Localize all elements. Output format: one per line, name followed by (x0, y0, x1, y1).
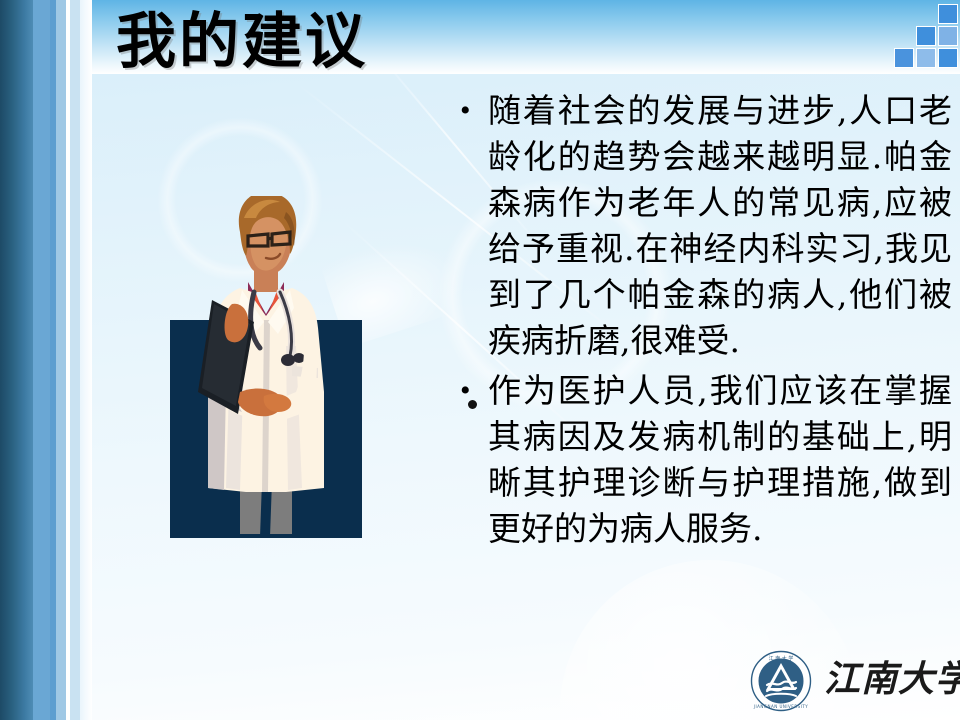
bullet-text: 作为医护人员,我们应该在掌握其病因及发病机制的基础上,明晰其护理诊断与护理措施,… (488, 368, 952, 552)
university-logo: 江 南 大 学 JIANGNAN UNIVERSITY 江南大学 (750, 648, 950, 712)
female-doctor-illustration (168, 196, 364, 541)
bar-dark-teal (0, 0, 33, 720)
bar-medium-blue (33, 0, 50, 720)
corner-square-3 (938, 26, 958, 46)
presentation-slide: 我的建议 (0, 0, 960, 720)
bar-pale-blue (70, 0, 80, 720)
bar-light-blue (56, 0, 66, 720)
bullet-marker: • (452, 88, 488, 134)
content-body: • 随着社会的发展与进步,人口老龄化的趋势会越来越明显.帕金森病作为老年人的常见… (452, 88, 952, 556)
corner-square-5 (916, 48, 936, 68)
corner-square-2 (916, 26, 936, 46)
corner-square-1 (938, 4, 958, 24)
left-decorative-bars (0, 0, 92, 720)
corner-square-4 (894, 48, 914, 68)
page-title: 我的建议 (116, 5, 368, 79)
list-item: • 作为医护人员,我们应该在掌握其病因及发病机制的基础上,明晰其护理诊断与护理措… (452, 368, 952, 552)
bar-near-white (80, 0, 92, 720)
svg-text:JIANGNAN UNIVERSITY: JIANGNAN UNIVERSITY (753, 704, 808, 709)
bullet-marker: • (452, 368, 488, 414)
list-item: • 随着社会的发展与进步,人口老龄化的趋势会越来越明显.帕金森病作为老年人的常见… (452, 88, 952, 364)
corner-square-6 (938, 48, 958, 68)
svg-text:江 南 大 学: 江 南 大 学 (769, 655, 794, 662)
corner-square-motif (894, 4, 960, 76)
jiangnan-university-seal-icon: 江 南 大 学 JIANGNAN UNIVERSITY (750, 650, 812, 712)
bullet-text: 随着社会的发展与进步,人口老龄化的趋势会越来越明显.帕金森病作为老年人的常见病,… (488, 88, 952, 364)
university-wordmark: 江南大学 (824, 654, 960, 704)
